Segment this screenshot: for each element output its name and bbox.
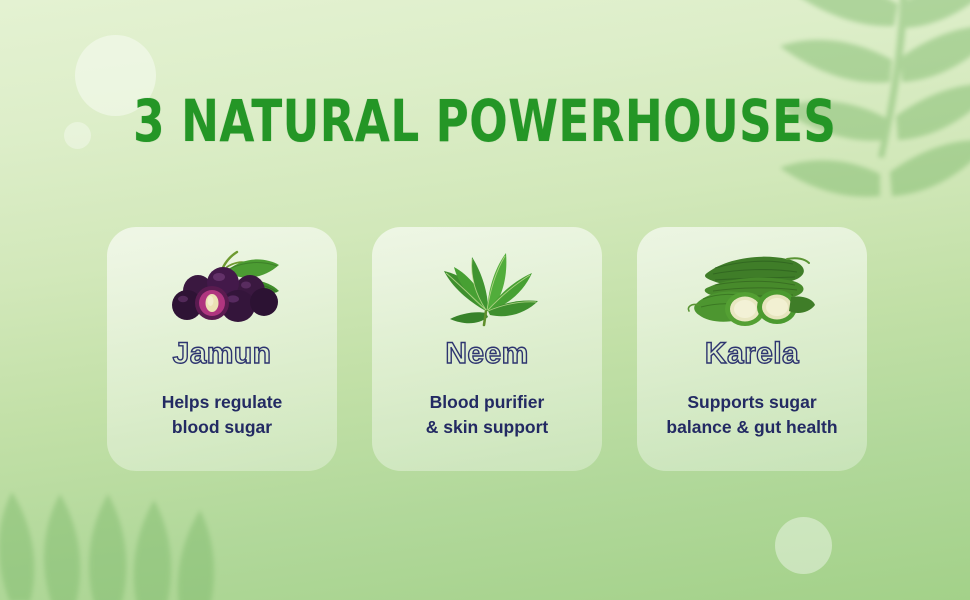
card-title-neem: Neem: [445, 337, 528, 370]
page-title: 3 NATURAL POWERHOUSES: [133, 92, 836, 150]
benefit-card-row: Jamun Helps regulate blood sugar: [107, 227, 867, 471]
headline-container: 3 NATURAL POWERHOUSES: [0, 92, 970, 150]
card-title-jamun: Jamun: [173, 337, 272, 370]
benefit-card-neem[interactable]: Neem Blood purifier & skin support: [372, 227, 602, 471]
neem-leaf-icon: [422, 247, 552, 329]
promo-banner: 3 NATURAL POWERHOUSES: [0, 0, 970, 600]
card-title-karela: Karela: [705, 337, 799, 370]
karela-bitter-gourd-icon: [687, 247, 817, 329]
card-description-karela: Supports sugar balance & gut health: [656, 390, 847, 440]
card-description-neem: Blood purifier & skin support: [416, 390, 559, 440]
card-description-jamun: Helps regulate blood sugar: [152, 390, 293, 440]
circle-bottom-right-icon: [775, 517, 832, 574]
jamun-berries-icon: [157, 247, 287, 329]
benefit-card-jamun[interactable]: Jamun Helps regulate blood sugar: [107, 227, 337, 471]
benefit-card-karela[interactable]: Karela Supports sugar balance & gut heal…: [637, 227, 867, 471]
